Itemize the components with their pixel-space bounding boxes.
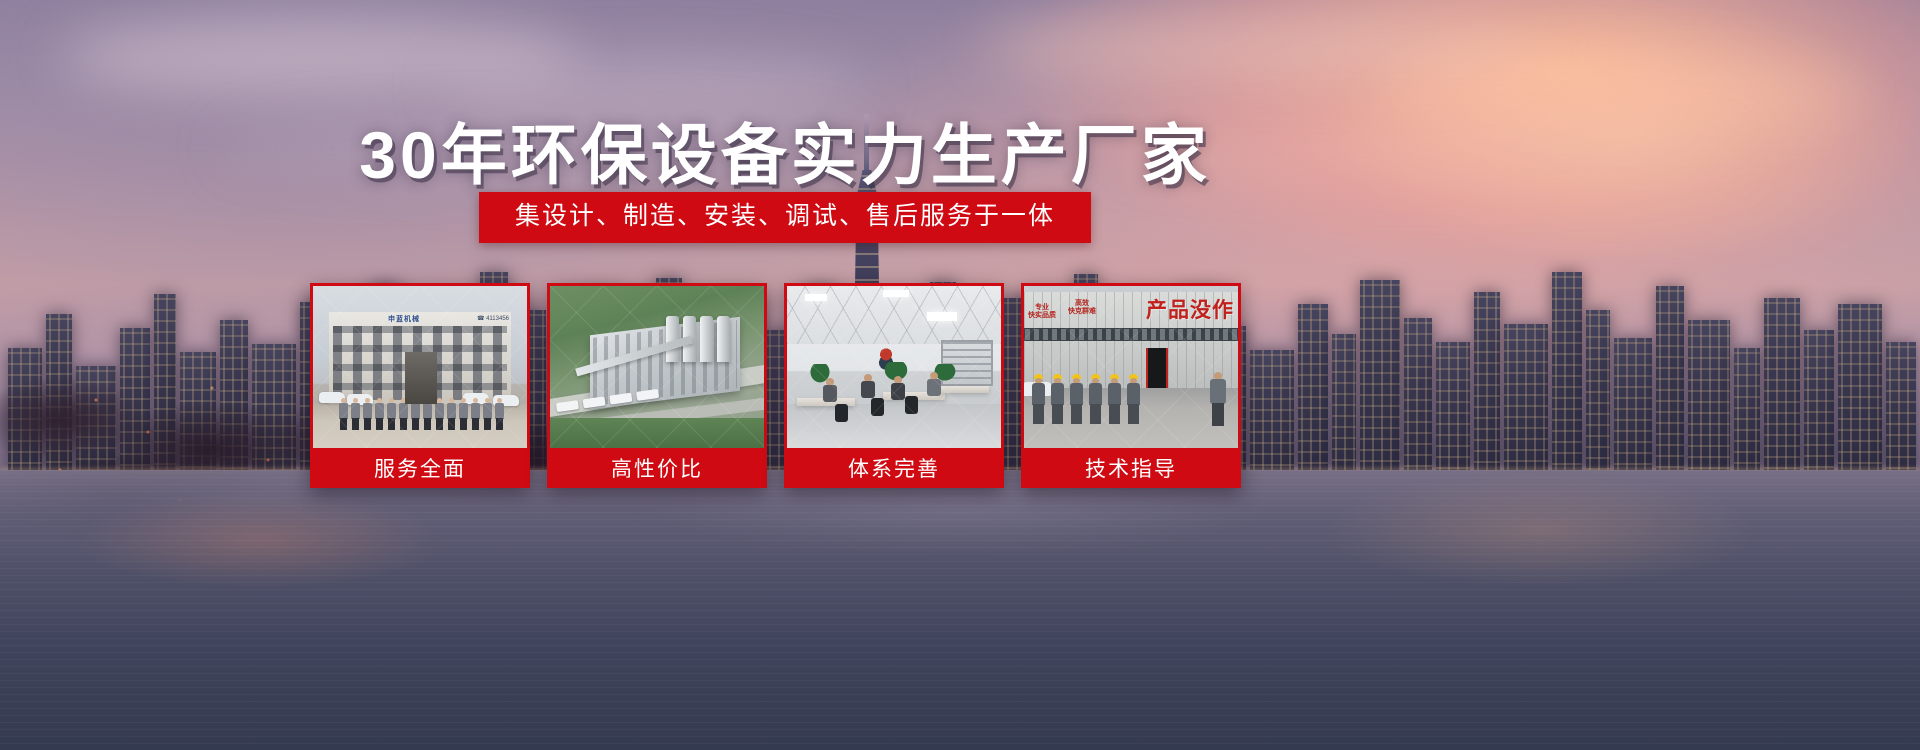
feature-card[interactable]: 体系完善 (784, 283, 1004, 488)
card-caption: 高性价比 (550, 448, 764, 488)
feature-card[interactable]: 高性价比 (547, 283, 767, 488)
card-caption: 体系完善 (787, 448, 1001, 488)
feature-card[interactable]: 专业快实品质 高效快克群难 产品没作 技术指导 (1021, 283, 1241, 488)
water-reflection (0, 470, 1920, 750)
building-signage: 申蓝机械 (359, 314, 449, 324)
feature-card-list: 申蓝机械 ☎ 4113456 (310, 283, 1241, 488)
card-caption: 服务全面 (313, 448, 527, 488)
card-photo-industrial-plant (550, 286, 764, 448)
factory-wall-text: 产品没作 (1146, 294, 1234, 324)
card-caption: 技术指导 (1024, 448, 1238, 488)
card-photo-factory-workers: 专业快实品质 高效快克群难 产品没作 (1024, 286, 1238, 448)
card-photo-office-building: 申蓝机械 ☎ 4113456 (313, 286, 527, 448)
river-water (0, 470, 1920, 750)
building-phone: ☎ 4113456 (477, 315, 509, 322)
subtitle-container: 集设计、制造、安装、调试、售后服务于一体 (0, 192, 1570, 243)
hero-banner: 30年环保设备实力生产厂家 集设计、制造、安装、调试、售后服务于一体 申蓝机械 … (0, 0, 1920, 750)
page-title: 30年环保设备实力生产厂家 (0, 102, 1570, 198)
card-photo-office-interior (787, 286, 1001, 448)
feature-card[interactable]: 申蓝机械 ☎ 4113456 (310, 283, 530, 488)
subtitle-badge: 集设计、制造、安装、调试、售后服务于一体 (479, 192, 1091, 243)
